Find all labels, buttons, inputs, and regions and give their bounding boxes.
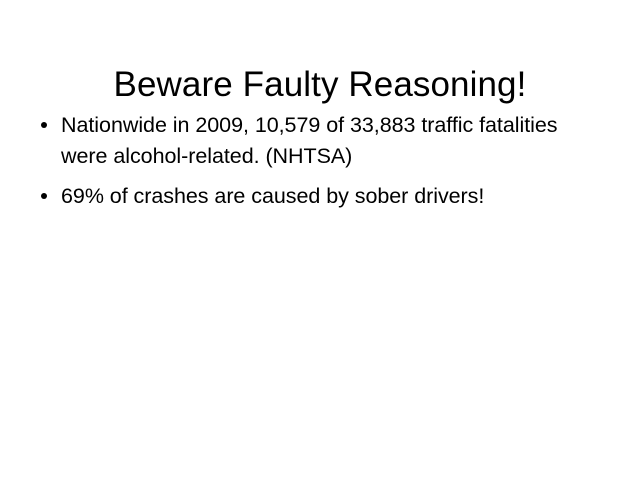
bullet-text: 69% of crashes are caused by sober drive… [61,181,604,212]
bullet-dot-icon [41,122,47,128]
bullet-list: Nationwide in 2009, 10,579 of 33,883 tra… [38,110,604,212]
list-item: 69% of crashes are caused by sober drive… [38,181,604,212]
slide-title: Beware Faulty Reasoning! [0,64,640,106]
bullet-dot-icon [41,193,47,199]
bullet-text: Nationwide in 2009, 10,579 of 33,883 tra… [61,110,604,172]
list-item: Nationwide in 2009, 10,579 of 33,883 tra… [38,110,604,172]
slide-canvas: Beware Faulty Reasoning! Nationwide in 2… [0,0,640,480]
